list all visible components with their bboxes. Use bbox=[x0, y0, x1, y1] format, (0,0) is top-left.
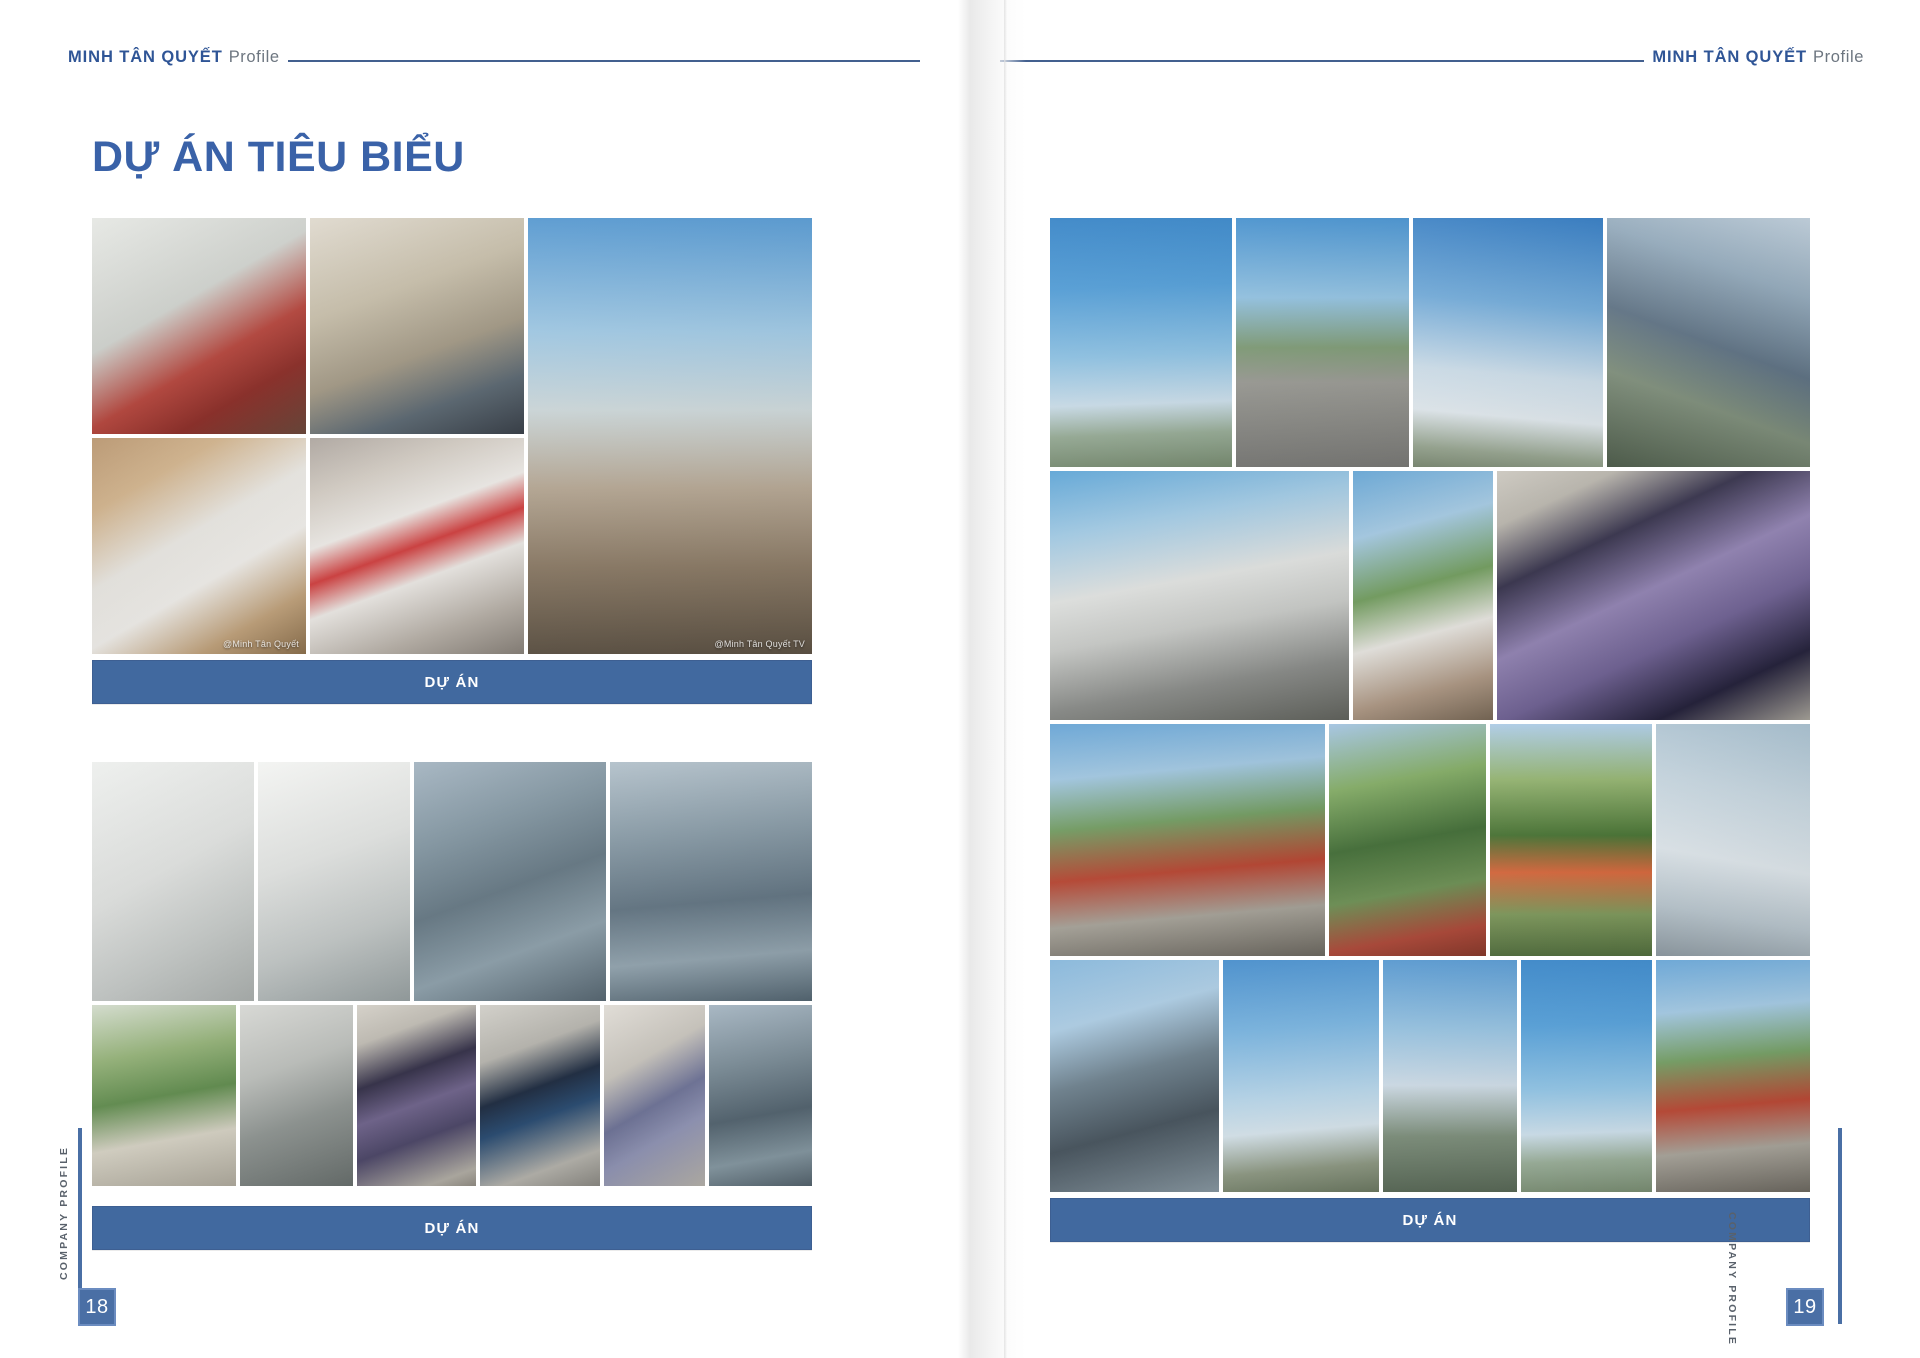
right-collage-2 bbox=[1050, 724, 1810, 1192]
left-collage-1: @Minh Tân Quyết @Minh Tân Quyết TV bbox=[92, 218, 812, 654]
photo bbox=[1236, 218, 1409, 467]
photo-watermark: @Minh Tân Quyết TV bbox=[715, 639, 805, 649]
right-vertical-label: COMPANY PROFILE bbox=[1726, 1212, 1738, 1346]
brand-name: MINH TÂN QUYẾT bbox=[68, 48, 223, 66]
header-rule bbox=[1000, 60, 1644, 62]
photo bbox=[258, 762, 410, 1001]
photo bbox=[604, 1005, 705, 1186]
photo bbox=[310, 438, 524, 654]
brand-wordmark: MINH TÂN QUYẾTProfile bbox=[68, 48, 280, 67]
photo bbox=[1656, 960, 1810, 1192]
photo: @Minh Tân Quyết bbox=[92, 438, 306, 654]
photo: @Minh Tân Quyết TV bbox=[528, 218, 812, 654]
photo bbox=[1050, 960, 1219, 1192]
photo bbox=[480, 1005, 599, 1186]
header-rule bbox=[288, 60, 920, 62]
photo bbox=[1353, 471, 1493, 720]
photo bbox=[357, 1005, 476, 1186]
caption-bar-project-3: DỰ ÁN bbox=[1050, 1198, 1810, 1242]
photo bbox=[1050, 218, 1232, 467]
left-vertical-label: COMPANY PROFILE bbox=[58, 1146, 70, 1280]
photo bbox=[92, 1005, 236, 1186]
left-page-header: MINH TÂN QUYẾTProfile bbox=[68, 48, 920, 67]
photo bbox=[1413, 218, 1603, 467]
photo bbox=[1223, 960, 1379, 1192]
caption-bar-project-1: DỰ ÁN bbox=[92, 660, 812, 704]
right-footer-rule bbox=[1838, 1128, 1842, 1324]
brand-suffix: Profile bbox=[1813, 48, 1864, 66]
photo bbox=[1383, 960, 1517, 1192]
brand-name: MINH TÂN QUYẾT bbox=[1652, 48, 1807, 66]
photo bbox=[310, 218, 524, 434]
brand-wordmark: MINH TÂN QUYẾTProfile bbox=[1652, 48, 1864, 67]
caption-bar-project-2: DỰ ÁN bbox=[92, 1206, 812, 1250]
page-number-badge: 18 bbox=[78, 1288, 116, 1326]
photo bbox=[92, 218, 306, 434]
photo bbox=[1329, 724, 1486, 956]
left-collage-2 bbox=[92, 762, 812, 1186]
photo bbox=[92, 762, 254, 1001]
photo bbox=[240, 1005, 353, 1186]
right-collage-1 bbox=[1050, 218, 1810, 720]
page-title: DỰ ÁN TIÊU BIỂU bbox=[92, 136, 465, 179]
photo bbox=[1656, 724, 1810, 956]
photo bbox=[1497, 471, 1810, 720]
brochure-spread: MINH TÂN QUYẾTProfile DỰ ÁN TIÊU BIỂU @M… bbox=[0, 0, 1920, 1358]
photo bbox=[1050, 724, 1325, 956]
page-number-badge: 19 bbox=[1786, 1288, 1824, 1326]
photo bbox=[1521, 960, 1652, 1192]
photo bbox=[709, 1005, 812, 1186]
photo-watermark: @Minh Tân Quyết bbox=[223, 639, 299, 649]
photo bbox=[414, 762, 606, 1001]
right-page: MINH TÂN QUYẾTProfile bbox=[960, 0, 1920, 1358]
brand-suffix: Profile bbox=[229, 48, 280, 66]
right-page-header: MINH TÂN QUYẾTProfile bbox=[1000, 48, 1864, 67]
left-page: MINH TÂN QUYẾTProfile DỰ ÁN TIÊU BIỂU @M… bbox=[0, 0, 960, 1358]
photo bbox=[1490, 724, 1651, 956]
photo bbox=[610, 762, 812, 1001]
photo bbox=[1050, 471, 1349, 720]
photo bbox=[1607, 218, 1810, 467]
